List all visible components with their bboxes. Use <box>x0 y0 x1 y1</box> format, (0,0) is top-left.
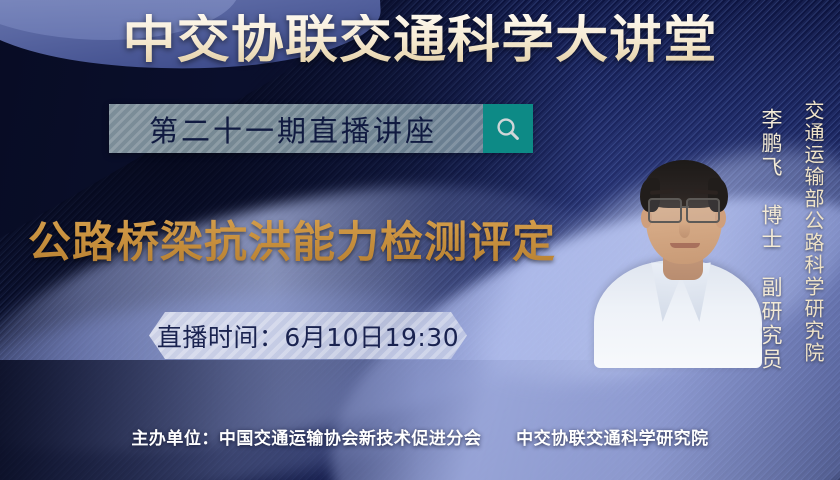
session-search-field[interactable]: 第二十一期直播讲座 <box>109 104 483 153</box>
search-button[interactable] <box>483 104 533 153</box>
live-time-badge: 直播时间：6月10日19:30 <box>149 312 467 359</box>
speaker-glasses-bridge <box>680 206 689 208</box>
live-time-label: 直播时间：6月10日19:30 <box>157 318 459 354</box>
search-icon <box>494 115 522 143</box>
topic-title: 公路桥梁抗洪能力检测评定 <box>28 208 556 270</box>
poster-root: 中交协联交通科学大讲堂 第二十一期直播讲座 公路桥梁抗洪能力检测评定 直播时间：… <box>0 0 840 480</box>
speaker-nose <box>679 222 690 238</box>
session-search-bar[interactable]: 第二十一期直播讲座 <box>109 104 533 153</box>
speaker-organization: 交通运输部公路科学研究院 <box>799 100 828 364</box>
session-label: 第二十一期直播讲座 <box>149 108 443 150</box>
footer-organizer-secondary: 中交协联交通科学研究院 <box>516 429 709 449</box>
page-title: 中交协联交通科学大讲堂 <box>0 14 840 68</box>
footer-organizers: 主办单位：中国交通运输协会新技术促进分会 中交协联交通科学研究院 <box>0 424 840 449</box>
speaker-glasses-lens-left <box>648 198 682 223</box>
footer-organizer-primary: 主办单位：中国交通运输协会新技术促进分会 <box>131 429 481 449</box>
speaker-mouth <box>670 243 700 248</box>
background-bottom-band <box>0 360 840 480</box>
speaker-portrait <box>604 133 752 368</box>
speaker-glasses <box>644 198 724 220</box>
speaker-glasses-lens-right <box>686 198 720 223</box>
speaker-name-title: 李鹏飞 博士 副研究员 <box>756 108 786 372</box>
